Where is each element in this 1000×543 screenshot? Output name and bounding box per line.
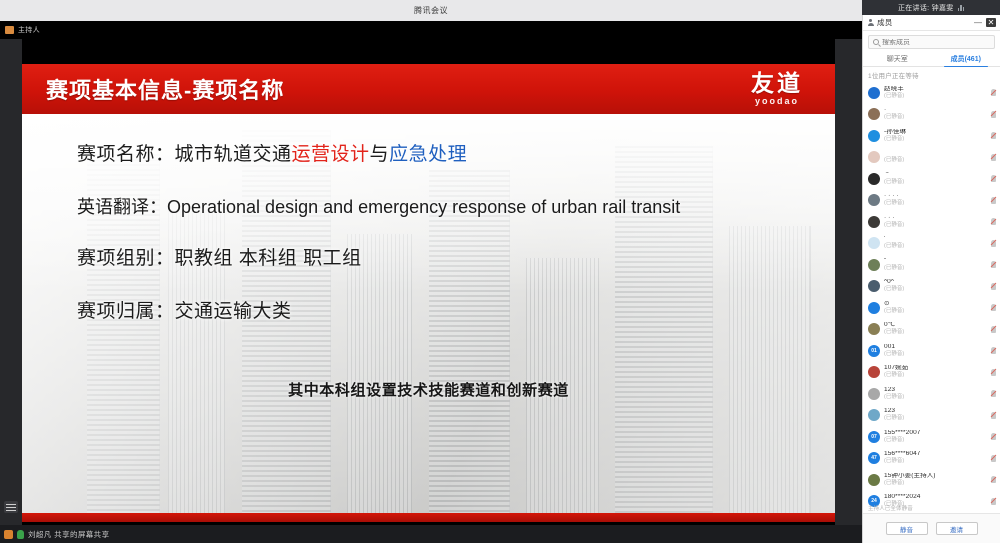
- member-icons: [991, 89, 996, 96]
- stage-left-gutter: [0, 39, 22, 525]
- member-status: (已静音): [884, 352, 987, 358]
- person-icon: [867, 19, 874, 27]
- member-text: ^0^(已静音): [884, 279, 987, 293]
- member-icons: [991, 261, 996, 268]
- microphone-muted-icon[interactable]: [991, 412, 996, 419]
- host-badge-icon: [5, 26, 14, 34]
- member-list[interactable]: 赵晓丰(已静音)·(已静音)-孙佳琳(已静音)⁀(已静音)︶(已静音)· · ·…: [863, 82, 1000, 513]
- member-status: (已静音): [884, 158, 987, 164]
- member-status: (已静音): [884, 481, 987, 487]
- microphone-muted-icon[interactable]: [991, 132, 996, 139]
- member-name: -孙佳琳: [884, 129, 987, 136]
- list-icon[interactable]: [4, 501, 18, 513]
- microphone-muted-icon[interactable]: [991, 283, 996, 290]
- member-name: 155****2007: [884, 430, 987, 437]
- panel-title-label: 成员: [877, 17, 970, 28]
- slide-header: 赛项基本信息-赛项名称 友道 yoodao: [22, 64, 835, 114]
- slide-line-label: 赛项归属：: [77, 301, 175, 322]
- microphone-muted-icon[interactable]: [991, 326, 996, 333]
- member-icons: [991, 390, 996, 397]
- member-icons: [991, 175, 996, 182]
- slide-footer-band: [22, 513, 835, 522]
- member-name: ︶: [884, 172, 987, 179]
- microphone-muted-icon[interactable]: [991, 347, 996, 354]
- slide-line-part: 城市轨道交通: [175, 144, 292, 165]
- member-text: 123(已静音): [884, 408, 987, 422]
- list-item[interactable]: 07155****2007(已静音): [863, 426, 1000, 448]
- list-item[interactable]: ⊙(已静音): [863, 297, 1000, 319]
- member-text: 156****6047(已静音): [884, 451, 987, 465]
- tab-members[interactable]: 成员(461): [932, 52, 1000, 66]
- slide-line-label: 英语翻译：: [77, 197, 167, 217]
- member-name: ": [884, 258, 987, 265]
- list-item[interactable]: 01001(已静音): [863, 340, 1000, 362]
- slide-text-content: 赛项名称：城市轨道交通运营设计与应急处理英语翻译：Operational des…: [22, 114, 835, 513]
- member-name: ⊙: [884, 301, 987, 308]
- bottom-status-bar: 刘超凡 共享的屏幕共享: [0, 525, 862, 543]
- meeting-title: 腾讯会议: [414, 5, 448, 16]
- member-text: 107婉茹(已静音): [884, 365, 987, 379]
- search-icon: [873, 39, 879, 45]
- member-icons: [991, 304, 996, 311]
- member-name: 赵晓丰: [884, 86, 987, 93]
- search-box[interactable]: [868, 35, 995, 49]
- screenshare-status-text: 刘超凡 共享的屏幕共享: [28, 529, 109, 540]
- slide-line: 赛项归属：交通运输大类: [77, 299, 805, 325]
- shared-slide: 赛项基本信息-赛项名称 友道 yoodao: [22, 39, 835, 534]
- member-status: (已静音): [884, 416, 987, 422]
- member-text: · · · ·(已静音): [884, 193, 987, 207]
- meeting-titlebar: 腾讯会议: [0, 0, 862, 21]
- member-status: (已静音): [884, 373, 987, 379]
- slide-note: 其中本科组设置技术技能赛道和创新赛道: [22, 379, 835, 400]
- avatar: [868, 474, 880, 486]
- avatar: [868, 194, 880, 206]
- participants-panel: 正在讲话: 钟嘉雯 成员 — ✕ 聊天室 成员(461) 1位用户正在等待 赵晓…: [862, 0, 1000, 543]
- slide-line: 英语翻译：Operational design and emergency re…: [77, 195, 805, 219]
- member-status: (已静音): [884, 459, 987, 465]
- video-stage: 主持人 赛项基本信息-赛项名称 友道 yoodao: [0, 21, 862, 543]
- member-name: · · ·: [884, 215, 987, 222]
- member-text: ·(已静音): [884, 107, 987, 121]
- member-icons: [991, 132, 996, 139]
- list-item[interactable]: · · · ·(已静音): [863, 190, 1000, 212]
- list-item[interactable]: "(已静音): [863, 254, 1000, 276]
- microphone-muted-icon[interactable]: [991, 304, 996, 311]
- avatar: [868, 130, 880, 142]
- member-text: 001(已静音): [884, 344, 987, 358]
- slide-line-part: Operational design and emergency respons…: [167, 197, 680, 217]
- avatar: 01: [868, 345, 880, 357]
- microphone-muted-icon[interactable]: [991, 89, 996, 96]
- avatar: [868, 237, 880, 249]
- member-text: 0℃(已静音): [884, 322, 987, 336]
- list-item[interactable]: 15钟小姜(主持人)(已静音): [863, 469, 1000, 491]
- slide-line-part: 运营设计: [292, 144, 370, 165]
- brand-name-cn: 友道: [751, 72, 803, 95]
- microphone-muted-icon[interactable]: [991, 197, 996, 204]
- member-status: (已静音): [884, 438, 987, 444]
- avatar: [868, 280, 880, 292]
- list-item[interactable]: 赵晓丰(已静音): [863, 82, 1000, 104]
- list-item[interactable]: 123(已静音): [863, 405, 1000, 427]
- search-input[interactable]: [882, 39, 990, 46]
- list-item[interactable]: · · ·(已静音): [863, 211, 1000, 233]
- panel-footnote: 主持人已全体静音: [868, 504, 913, 512]
- member-icons: [991, 218, 996, 225]
- microphone-muted-icon[interactable]: [991, 218, 996, 225]
- avatar: [868, 388, 880, 400]
- member-icons: [991, 498, 996, 505]
- member-status: (已静音): [884, 244, 987, 250]
- stage-topbar: 主持人: [0, 21, 862, 39]
- slide-line-part: 与: [370, 144, 390, 165]
- microphone-muted-icon[interactable]: [991, 154, 996, 161]
- slide-line-label: 赛项组别：: [77, 248, 175, 269]
- microphone-icon: [17, 530, 24, 539]
- avatar: [868, 108, 880, 120]
- microphone-muted-icon[interactable]: [991, 476, 996, 483]
- slide-line-part: 应急处理: [389, 144, 467, 165]
- list-item[interactable]: ︶(已静音): [863, 168, 1000, 190]
- member-icons: [991, 369, 996, 376]
- member-status: (已静音): [884, 395, 987, 401]
- member-text: ⁀(已静音): [884, 150, 987, 164]
- active-speaker-text: 正在讲话: 钟嘉雯: [898, 3, 954, 13]
- panel-tabs: 聊天室 成员(461): [863, 52, 1000, 67]
- member-icons: [991, 154, 996, 161]
- panel-titlebar: 成员 — ✕: [863, 15, 1000, 31]
- slide-line-label: 赛项名称：: [77, 144, 175, 165]
- member-icons: [991, 240, 996, 247]
- microphone-muted-icon[interactable]: [991, 261, 996, 268]
- close-icon[interactable]: ✕: [986, 18, 996, 27]
- slide-line: 赛项组别：职教组 本科组 职工组: [77, 246, 805, 272]
- list-item[interactable]: ^0^(已静音): [863, 276, 1000, 298]
- member-status: (已静音): [884, 223, 987, 229]
- member-text: ︶(已静音): [884, 172, 987, 186]
- member-status: (已静音): [884, 94, 987, 100]
- avatar: [868, 259, 880, 271]
- slide-top-band: [22, 39, 835, 64]
- list-item[interactable]: '(已静音): [863, 233, 1000, 255]
- member-text: '(已静音): [884, 236, 987, 250]
- member-status: (已静音): [884, 330, 987, 336]
- member-icons: [991, 197, 996, 204]
- member-text: 123(已静音): [884, 387, 987, 401]
- member-text: 赵晓丰(已静音): [884, 86, 987, 100]
- member-status: (已静音): [884, 266, 987, 272]
- member-status: (已静音): [884, 309, 987, 315]
- microphone-muted-icon[interactable]: [991, 455, 996, 462]
- avatar: [868, 302, 880, 314]
- member-status: (已静音): [884, 287, 987, 293]
- member-name: 001: [884, 344, 987, 351]
- member-icons: [991, 111, 996, 118]
- list-item[interactable]: 107婉茹(已静音): [863, 362, 1000, 384]
- minimize-icon[interactable]: —: [973, 18, 983, 27]
- avatar: 47: [868, 452, 880, 464]
- member-icons: [991, 433, 996, 440]
- screenshare-badge-icon: [4, 530, 13, 539]
- member-status: (已静音): [884, 137, 987, 143]
- list-item[interactable]: ·(已静音): [863, 104, 1000, 126]
- microphone-muted-icon[interactable]: [991, 369, 996, 376]
- list-item[interactable]: -孙佳琳(已静音): [863, 125, 1000, 147]
- member-icons: [991, 412, 996, 419]
- avatar: [868, 409, 880, 421]
- member-icons: [991, 347, 996, 354]
- slide-line-part: 交通运输大类: [175, 301, 292, 322]
- slide-body: 赛项名称：城市轨道交通运营设计与应急处理英语翻译：Operational des…: [22, 114, 835, 513]
- avatar: [868, 151, 880, 163]
- list-item[interactable]: ⁀(已静音): [863, 147, 1000, 169]
- slide-line: 赛项名称：城市轨道交通运营设计与应急处理: [77, 142, 805, 168]
- member-text: -孙佳琳(已静音): [884, 129, 987, 143]
- member-status: (已静音): [884, 180, 987, 186]
- member-text: "(已静音): [884, 258, 987, 272]
- list-item[interactable]: 47156****6047(已静音): [863, 448, 1000, 470]
- avatar: [868, 87, 880, 99]
- microphone-muted-icon[interactable]: [991, 433, 996, 440]
- microphone-muted-icon[interactable]: [991, 390, 996, 397]
- member-text: ⊙(已静音): [884, 301, 987, 315]
- mute-all-button[interactable]: 静音: [886, 522, 928, 535]
- member-icons: [991, 326, 996, 333]
- list-item[interactable]: 0℃(已静音): [863, 319, 1000, 341]
- brand-logo: 友道 yoodao: [751, 72, 827, 106]
- avatar: [868, 366, 880, 378]
- microphone-muted-icon[interactable]: [991, 175, 996, 182]
- brand-name-en: yoodao: [751, 97, 803, 106]
- panel-footer: 静音 邀请: [863, 513, 1000, 543]
- slide-title: 赛项基本信息-赛项名称: [46, 73, 284, 105]
- slide-line-part: 职教组 本科组 职工组: [175, 248, 362, 269]
- invite-button[interactable]: 邀请: [936, 522, 978, 535]
- active-speaker-banner: 正在讲话: 钟嘉雯: [862, 0, 1000, 15]
- avatar: [868, 323, 880, 335]
- microphone-muted-icon[interactable]: [991, 111, 996, 118]
- list-item[interactable]: 20191****6520(已静音): [863, 512, 1000, 513]
- stage-host-label: 主持人: [18, 25, 40, 35]
- audio-wave-icon: [958, 4, 965, 11]
- meeting-app: 腾讯会议 主持人 赛项基本信息-赛项名称 友道 yoodao: [0, 0, 1000, 543]
- member-text: 15钟小姜(主持人)(已静音): [884, 473, 987, 487]
- microphone-muted-icon[interactable]: [991, 498, 996, 505]
- list-item[interactable]: 123(已静音): [863, 383, 1000, 405]
- member-status: (已静音): [884, 201, 987, 207]
- tab-chat[interactable]: 聊天室: [863, 52, 932, 66]
- waiting-group-heading: 1位用户正在等待: [863, 67, 1000, 82]
- member-name: 123: [884, 387, 987, 394]
- member-icons: [991, 455, 996, 462]
- avatar: [868, 216, 880, 228]
- member-text: · · ·(已静音): [884, 215, 987, 229]
- microphone-muted-icon[interactable]: [991, 240, 996, 247]
- avatar: [868, 173, 880, 185]
- member-status: (已静音): [884, 115, 987, 121]
- member-icons: [991, 476, 996, 483]
- stage-right-gutter: [835, 39, 862, 525]
- avatar: 07: [868, 431, 880, 443]
- member-text: 155****2007(已静音): [884, 430, 987, 444]
- member-icons: [991, 283, 996, 290]
- member-name: 15钟小姜(主持人): [884, 473, 987, 480]
